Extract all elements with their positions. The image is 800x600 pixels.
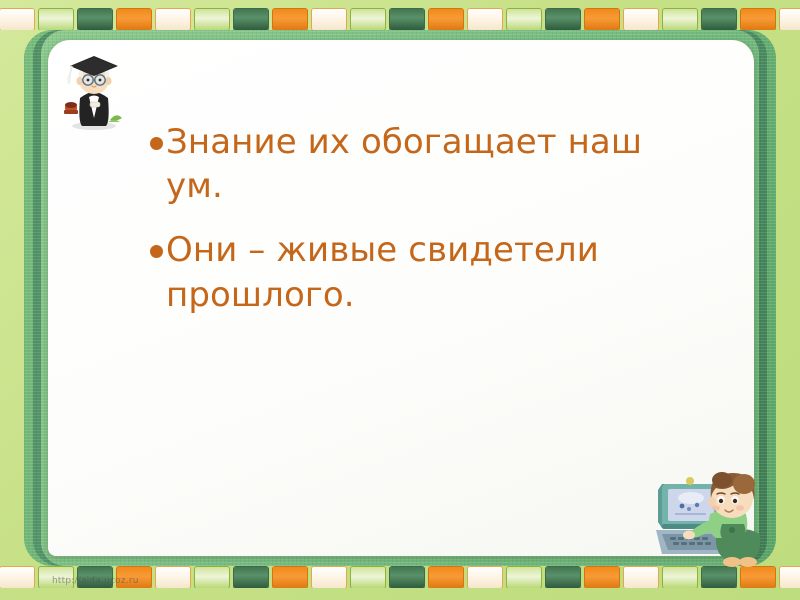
- border-tile-lgreen: [351, 9, 385, 30]
- border-tile-orange: [585, 9, 619, 30]
- graduate-professor-icon: [56, 48, 132, 132]
- border-tile-orange: [117, 9, 151, 30]
- border-tile-lgreen: [351, 567, 385, 588]
- bullet-text: Знание их обогащает наш ум.: [166, 120, 690, 208]
- border-tile-lgreen: [507, 567, 541, 588]
- border-tile-cream: [780, 9, 800, 30]
- border-tile-cream: [312, 9, 346, 30]
- border-tile-orange: [741, 9, 775, 30]
- border-tile-cream: [468, 9, 502, 30]
- watermark-text: http://aida.ucoz.ru: [52, 576, 139, 586]
- border-tile-cream: [0, 567, 34, 588]
- border-tile-cream: [312, 567, 346, 588]
- border-tile-orange: [429, 567, 463, 588]
- border-tile-dgreen: [546, 9, 580, 30]
- list-item: Они – живые свидетели прошлого.: [150, 228, 690, 316]
- border-tile-lgreen: [195, 9, 229, 30]
- border-tile-orange: [273, 567, 307, 588]
- bullet-dot-icon: [150, 245, 163, 258]
- border-tile-orange: [585, 567, 619, 588]
- border-tile-cream: [156, 9, 190, 30]
- border-tile-dgreen: [234, 9, 268, 30]
- border-tile-lgreen: [39, 9, 73, 30]
- border-tile-dgreen: [234, 567, 268, 588]
- bullet-list: Знание их обогащает наш ум. Они – живые …: [150, 120, 690, 337]
- border-tile-dgreen: [390, 567, 424, 588]
- border-tile-orange: [429, 9, 463, 30]
- border-tile-dgreen: [546, 567, 580, 588]
- slide-canvas: Знание их обогащает наш ум. Они – живые …: [0, 0, 800, 600]
- border-tile-orange: [273, 9, 307, 30]
- border-tile-lgreen: [507, 9, 541, 30]
- border-tile-dgreen: [78, 9, 112, 30]
- border-tile-cream: [156, 567, 190, 588]
- border-tile-dgreen: [702, 9, 736, 30]
- border-tiles-top: [0, 8, 800, 30]
- list-item: Знание их обогащает наш ум.: [150, 120, 690, 208]
- border-tile-lgreen: [663, 9, 697, 30]
- boy-at-computer-icon: [644, 462, 792, 572]
- border-tile-cream: [0, 9, 34, 30]
- border-tile-cream: [624, 9, 658, 30]
- border-tile-lgreen: [195, 567, 229, 588]
- bullet-text: Они – живые свидетели прошлого.: [166, 228, 690, 316]
- border-tile-dgreen: [390, 9, 424, 30]
- border-tile-cream: [468, 567, 502, 588]
- bullet-dot-icon: [150, 137, 163, 150]
